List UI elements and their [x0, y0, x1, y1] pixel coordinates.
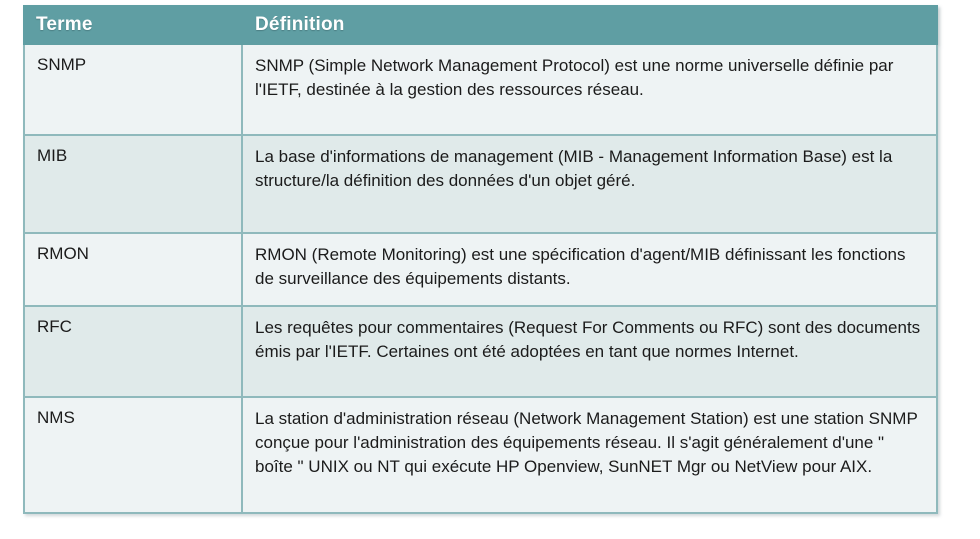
column-header-definition: Définition — [243, 5, 938, 45]
table-row: MIB La base d'informations de management… — [25, 136, 936, 234]
cell-term: SNMP — [25, 45, 243, 134]
table-row: SNMP SNMP (Simple Network Management Pro… — [25, 45, 936, 136]
cell-definition: La station d'administration réseau (Netw… — [243, 398, 936, 512]
glossary-table: Terme Définition SNMP SNMP (Simple Netwo… — [23, 5, 938, 514]
cell-term: RFC — [25, 307, 243, 396]
table-row: RMON RMON (Remote Monitoring) est une sp… — [25, 234, 936, 307]
table-row: RFC Les requêtes pour commentaires (Requ… — [25, 307, 936, 398]
cell-definition: La base d'informations de management (MI… — [243, 136, 936, 232]
table-body: SNMP SNMP (Simple Network Management Pro… — [23, 45, 938, 514]
column-header-term: Terme — [23, 5, 243, 45]
table-row: NMS La station d'administration réseau (… — [25, 398, 936, 512]
cell-definition: RMON (Remote Monitoring) est une spécifi… — [243, 234, 936, 305]
table-header-row: Terme Définition — [23, 5, 938, 45]
cell-definition: SNMP (Simple Network Management Protocol… — [243, 45, 936, 134]
cell-definition: Les requêtes pour commentaires (Request … — [243, 307, 936, 396]
cell-term: MIB — [25, 136, 243, 232]
cell-term: RMON — [25, 234, 243, 305]
cell-term: NMS — [25, 398, 243, 512]
